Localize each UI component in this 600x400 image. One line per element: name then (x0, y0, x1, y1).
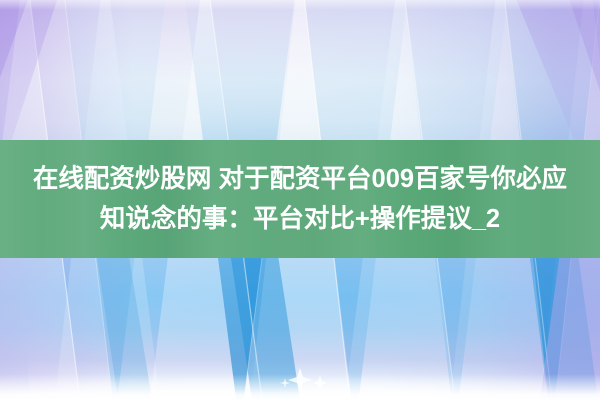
bottom-white-fade (0, 374, 600, 400)
banner-title-line-2: 知说念的事：平台对比+操作提议_2 (33, 199, 567, 239)
top-white-fade (0, 0, 600, 10)
banner-title: 在线配资炒股网 对于配资平台009百家号你必应 知说念的事：平台对比+操作提议_… (33, 159, 567, 239)
banner-image: 在线配资炒股网 对于配资平台009百家号你必应 知说念的事：平台对比+操作提议_… (0, 0, 600, 400)
title-band: 在线配资炒股网 对于配资平台009百家号你必应 知说念的事：平台对比+操作提议_… (0, 140, 600, 258)
banner-title-line-1: 在线配资炒股网 对于配资平台009百家号你必应 (33, 159, 567, 199)
